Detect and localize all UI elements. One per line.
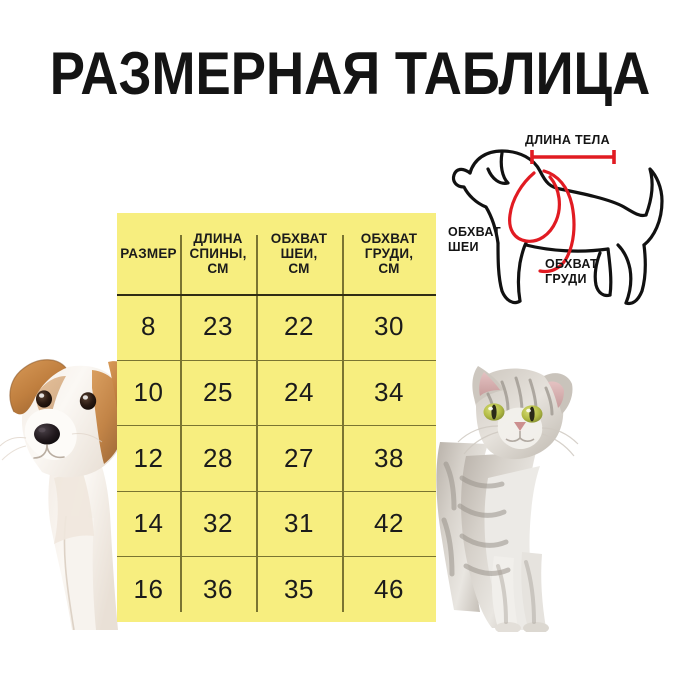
cat-photo <box>432 360 632 632</box>
diagram-label-body-length: ДЛИНА ТЕЛА <box>525 133 610 148</box>
grid-hline-header <box>117 294 436 296</box>
measurement-diagram: ДЛИНА ТЕЛА ОБХВАТ ШЕИ ОБХВАТ ГРУДИ <box>440 125 690 310</box>
table-gridlines <box>117 213 436 622</box>
grid-hline <box>117 491 436 492</box>
neck-girth-line <box>510 173 560 241</box>
grid-hline <box>117 360 436 361</box>
diagram-label-chest-girth: ОБХВАТ ГРУДИ <box>545 257 598 287</box>
size-chart-infographic: РАЗМЕРНАЯ ТАБЛИЦА <box>0 0 700 700</box>
dog-photo <box>0 300 132 630</box>
grid-hline <box>117 556 436 557</box>
grid-hline <box>117 425 436 426</box>
body-length-line <box>532 150 614 164</box>
diagram-label-neck-girth: ОБХВАТ ШЕИ <box>448 225 501 255</box>
page-title: РАЗМЕРНАЯ ТАБЛИЦА <box>42 44 658 104</box>
size-table-panel: РАЗМЕР ДЛИНА СПИНЫ, СМ ОБХВАТ ШЕИ, СМ ОБ… <box>117 213 436 622</box>
